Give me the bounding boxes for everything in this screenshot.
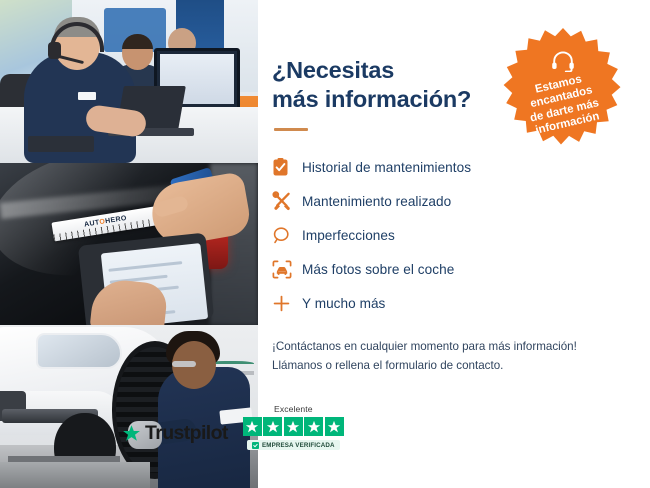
verified-check-icon: [252, 442, 259, 449]
feature-label: Historial de mantenimientos: [302, 160, 471, 175]
star-rating: [243, 417, 344, 436]
rating-star-3: [284, 417, 303, 436]
rating-star-2: [263, 417, 282, 436]
feature-item-maintenance-done: Mantenimiento realizado: [272, 185, 626, 217]
promo-banner: AUTOHERO: [0, 0, 650, 488]
feature-item-more-photos: Más fotos sobre el coche: [272, 253, 626, 285]
magnifier-icon: [272, 226, 302, 245]
verified-label: EMPRESA VERIFICADA: [262, 442, 335, 449]
title-line-1: ¿Necesitas: [272, 57, 394, 83]
plus-icon: [272, 294, 302, 313]
feature-label: Más fotos sobre el coche: [302, 262, 454, 277]
trustpilot-rating: Excelente EMPRESA VERIFICADA: [243, 404, 344, 450]
feature-label: Mantenimiento realizado: [302, 194, 451, 209]
rating-star-1: [243, 417, 262, 436]
title-divider: [274, 128, 308, 131]
contact-text: ¡Contáctanos en cualquier momento para m…: [272, 338, 626, 376]
feature-item-maintenance-history: Historial de mantenimientos: [272, 151, 626, 183]
trustpilot-star-icon: [122, 424, 141, 443]
clipboard-check-icon: [272, 158, 302, 177]
trustpilot-logo: Trustpilot: [122, 422, 228, 450]
contact-line-1: ¡Contáctanos en cualquier momento para m…: [272, 338, 626, 357]
feature-item-imperfections: Imperfecciones: [272, 219, 626, 251]
trustpilot-widget[interactable]: Trustpilot Excelente EMPRESA VERIFICADA: [122, 404, 344, 450]
call-center-agents-photo: [0, 0, 258, 163]
feature-list: Historial de mantenimientos Mantenimient…: [272, 151, 626, 319]
car-inspection-ruler-photo: AUTOHERO: [0, 163, 258, 325]
rating-star-4: [304, 417, 323, 436]
tools-cross-icon: [272, 191, 302, 211]
contact-line-2: Llámanos o rellena el formulario de cont…: [272, 357, 626, 376]
badge-text: Estamos encantados de darte más informac…: [523, 71, 604, 139]
help-starburst-badge: Estamos encantados de darte más informac…: [498, 26, 628, 156]
feature-label: Imperfecciones: [302, 228, 395, 243]
feature-item-much-more: Y mucho más: [272, 287, 626, 319]
car-photo-frame-icon: [272, 260, 302, 279]
verified-business-badge: EMPRESA VERIFICADA: [247, 440, 340, 450]
rating-star-5: [325, 417, 344, 436]
headset-icon: [550, 50, 576, 77]
rating-label: Excelente: [274, 404, 313, 414]
feature-label: Y mucho más: [302, 296, 385, 311]
trustpilot-wordmark: Trustpilot: [145, 422, 228, 445]
